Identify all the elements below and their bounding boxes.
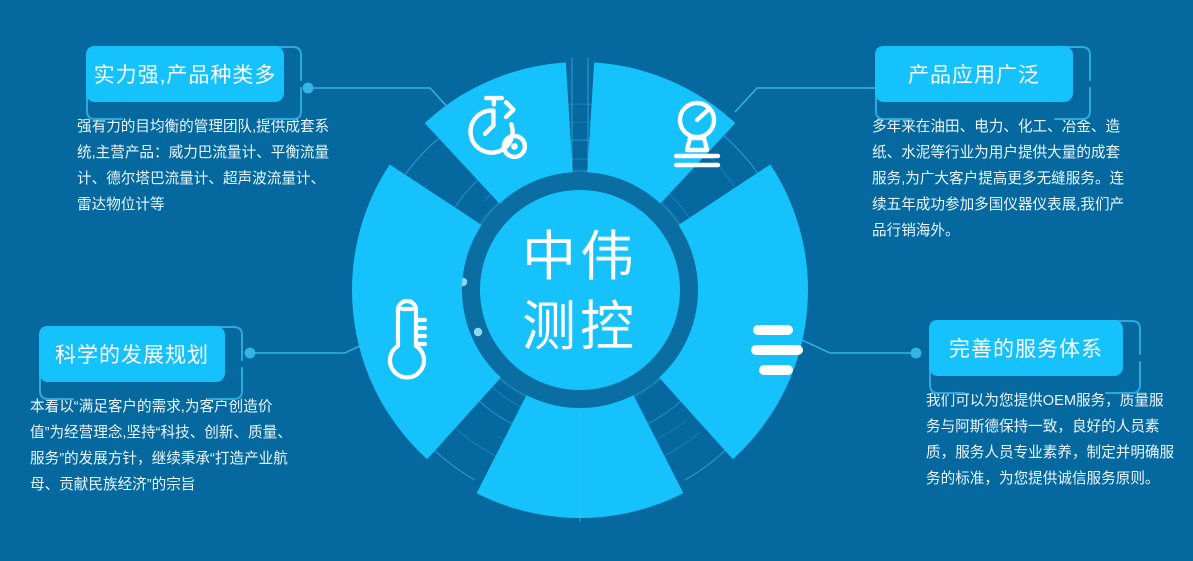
feature-strength: 实力强,产品种类多 强有力的目均衡的管理团队,提供成套系统,主营产品：威力巴流量…	[77, 46, 347, 219]
brand-text-line2: 测控	[522, 297, 638, 357]
label-wrap-apply: 产品应用广泛	[875, 46, 1073, 102]
feature-description-strength: 强有力的目均衡的管理团队,提供成套系统,主营产品：威力巴流量计、平衡流量计、德尔…	[77, 115, 339, 219]
label-wrap-plan: 科学的发展规划	[39, 326, 225, 382]
feature-service: 完善的服务体系 我们可以为您提供OEM服务，质量服务与阿斯德保持一致，良好的人员…	[920, 320, 1182, 493]
feature-label-plan[interactable]: 科学的发展规划	[39, 326, 225, 382]
brand-core-disc	[480, 190, 680, 390]
feature-label-strength[interactable]: 实力强,产品种类多	[86, 46, 284, 102]
feature-label-service[interactable]: 完善的服务体系	[929, 320, 1123, 376]
feature-description-service: 我们可以为您提供OEM服务，质量服务与阿斯德保持一致，良好的人员素质，服务人员专…	[926, 389, 1178, 493]
infographic-canvas: 中伟 测控	[0, 0, 1193, 561]
brand-text-line1: 中伟	[522, 227, 638, 287]
feature-plan: 科学的发展规划 本着以“满足客户的需求,为客户创造价值”为经营理念,坚持“科技、…	[30, 326, 302, 499]
central-hub: 中伟 测控	[340, 50, 820, 530]
label-wrap-service: 完善的服务体系	[929, 320, 1123, 376]
label-wrap-strength: 实力强,产品种类多	[86, 46, 284, 102]
feature-label-apply[interactable]: 产品应用广泛	[875, 46, 1073, 102]
feature-description-apply: 多年来在油田、电力、化工、冶金、造纸、水泥等行业为用户提供大量的成套服务,为广大…	[872, 115, 1128, 245]
feature-apply: 产品应用广泛 多年来在油田、电力、化工、冶金、造纸、水泥等行业为用户提供大量的成…	[866, 46, 1138, 245]
feature-description-plan: 本着以“满足客户的需求,为客户创造价值”为经营理念,坚持“科技、创新、质量、服务…	[30, 395, 296, 499]
